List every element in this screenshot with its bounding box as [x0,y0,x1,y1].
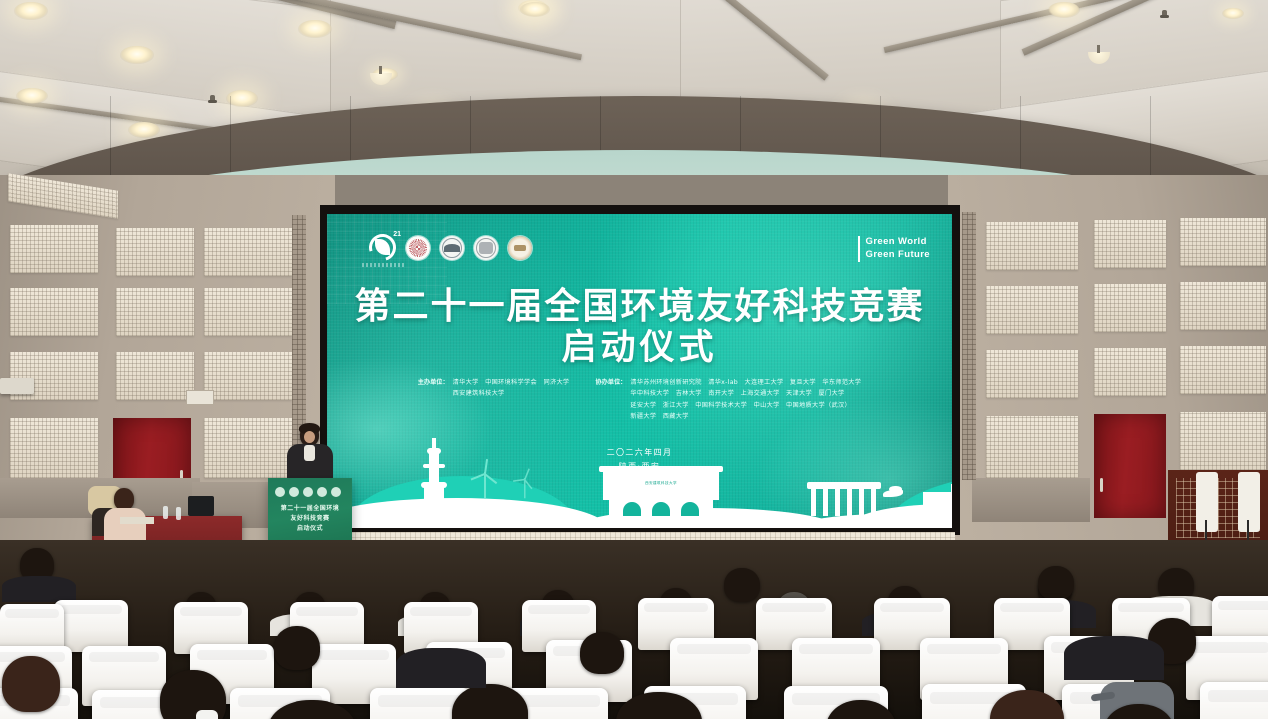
coorg-line: 延安大学 浙江大学 中国科学技术大学 中山大学 中国地质大学（武汉） [630,400,861,411]
ces-seal-icon [440,236,464,260]
audience-shoulders [1064,636,1164,680]
face-mask [196,710,218,719]
sponsor-logo-row: 21 [369,234,532,261]
podium-logo-row [275,487,341,497]
acoustic-panel [116,228,194,276]
acoustic-panel [986,416,1078,478]
acoustic-panel [1094,348,1166,396]
audience-head [580,632,624,674]
door-handle[interactable] [1100,478,1103,492]
audience-head [724,568,760,602]
host-line: 西安建筑科技大学 [453,388,570,399]
audience-head [274,626,320,670]
podium-title-line-2: 友好科技竞赛 [268,514,352,524]
podium-logo-icon [331,487,341,497]
slogan-line-2: Green Future [866,249,930,262]
colonnade-icon [807,482,881,516]
host-organizers: 主办单位： 清华大学 中国环境科学学会 同济大学 西安建筑科技大学 [418,377,570,423]
speaker-person [283,424,337,484]
acoustic-panel [986,286,1078,334]
acoustic-panel [10,225,98,273]
wind-turbine-icon [477,456,493,498]
wall-base-right [972,478,1090,522]
sprinkler-head [1162,10,1167,17]
floor-lamp [1238,472,1260,532]
tongji-seal-icon [474,236,498,260]
podium-title: 第二十一届全国环境 友好科技竞赛 启动仪式 [268,504,352,535]
perforated-column-right [962,212,976,480]
skyline-illustration: 西安建筑科技大学 [327,418,952,528]
side-door-right[interactable] [1094,414,1166,518]
slogan-line-1: Green World [866,236,930,249]
ceiling-downlight [128,122,160,138]
co-organizers: 协办单位： 清华苏州环境创新研究院 清华x-lab 大连理工大学 复旦大学 华东… [595,377,861,423]
acoustic-panel [10,418,98,478]
modern-building-icon [951,484,952,518]
coorg-label: 协办单位： [595,377,626,423]
bell-tower-icon [421,438,447,502]
ceiling-downlight [520,2,550,17]
audience-shoulders [396,648,486,688]
event-title-line-1: 第二十一届全国环境友好科技竞赛 [354,286,924,327]
acoustic-panel [1180,282,1266,330]
podium-logo-icon [303,487,313,497]
acoustic-panel [204,418,292,478]
acoustic-panel [1180,412,1266,474]
slogan-block: Green World Green Future [858,236,930,262]
audience-head [1038,566,1074,600]
audience-shoulders [2,576,76,602]
event-title-line-2: 启动仪式 [327,328,952,369]
water-bottle [163,506,168,519]
audience-chair[interactable] [1200,682,1268,719]
ceiling-downlight [120,46,154,64]
ceiling-downlight [14,2,48,20]
acoustic-panel [116,288,194,336]
organizers-block: 主办单位： 清华大学 中国环境科学学会 同济大学 西安建筑科技大学 协办单位： … [327,377,952,423]
water-bottle [176,507,181,520]
ceiling-downlight [1048,2,1080,18]
led-display-screen[interactable]: 21 Green World Green Future 第二十一届全国环境友好科… [327,214,952,528]
podium-title-line-1: 第二十一届全国环境 [268,504,352,514]
acoustic-panel [1180,346,1266,394]
city-gate-icon: 西安建筑科技大学 [603,470,719,516]
podium-logo-icon [317,487,327,497]
sprinkler-head [210,95,215,102]
coorg-line: 清华苏州环境创新研究院 清华x-lab 大连理工大学 复旦大学 华东师范大学 [630,377,861,388]
acoustic-panel [204,228,292,276]
logo-edition-number: 21 [393,231,401,238]
projector-device [0,378,34,394]
modern-building-icon [923,492,952,518]
acoustic-panel [204,288,292,336]
ceiling-downlight [298,20,332,38]
acoustic-panel [1094,220,1166,268]
competition-logo-icon: 21 [369,234,396,261]
acoustic-panel [986,350,1078,398]
name-plate [120,517,154,524]
floor-lamp [1196,472,1218,532]
host-label: 主办单位： [418,377,449,423]
acoustic-panel [1094,284,1166,332]
acoustic-panel [986,222,1078,270]
acoustic-panel [116,352,194,400]
acoustic-panel [1180,218,1266,266]
coorg-line: 华中科技大学 吉林大学 南开大学 上海交通大学 天津大学 厦门大学 [630,388,861,399]
acoustic-panel [10,288,98,336]
podium-title-line-3: 启动仪式 [268,524,352,534]
acoustic-panel [204,352,292,400]
host-line: 清华大学 中国环境科学学会 同济大学 [453,377,570,388]
dove-icon [883,486,905,498]
wall-speaker-box [186,390,214,405]
podium-logo-icon [275,487,285,497]
conference-hall-photo: 21 Green World Green Future 第二十一届全国环境友好科… [0,0,1268,719]
desk-monitor [188,496,214,516]
audience-chair[interactable] [54,600,128,652]
ceiling-downlight [1222,8,1244,19]
tsinghua-seal-icon [406,236,430,260]
xauat-seal-icon [508,236,532,260]
event-title: 第二十一届全国环境友好科技竞赛 启动仪式 [327,286,952,370]
audience-area [0,540,1268,719]
ceiling-downlight [16,88,48,104]
podium-logo-icon [289,487,299,497]
gate-caption: 西安建筑科技大学 [603,481,719,486]
audience-head [2,656,60,712]
wind-turbine-icon [519,472,530,499]
